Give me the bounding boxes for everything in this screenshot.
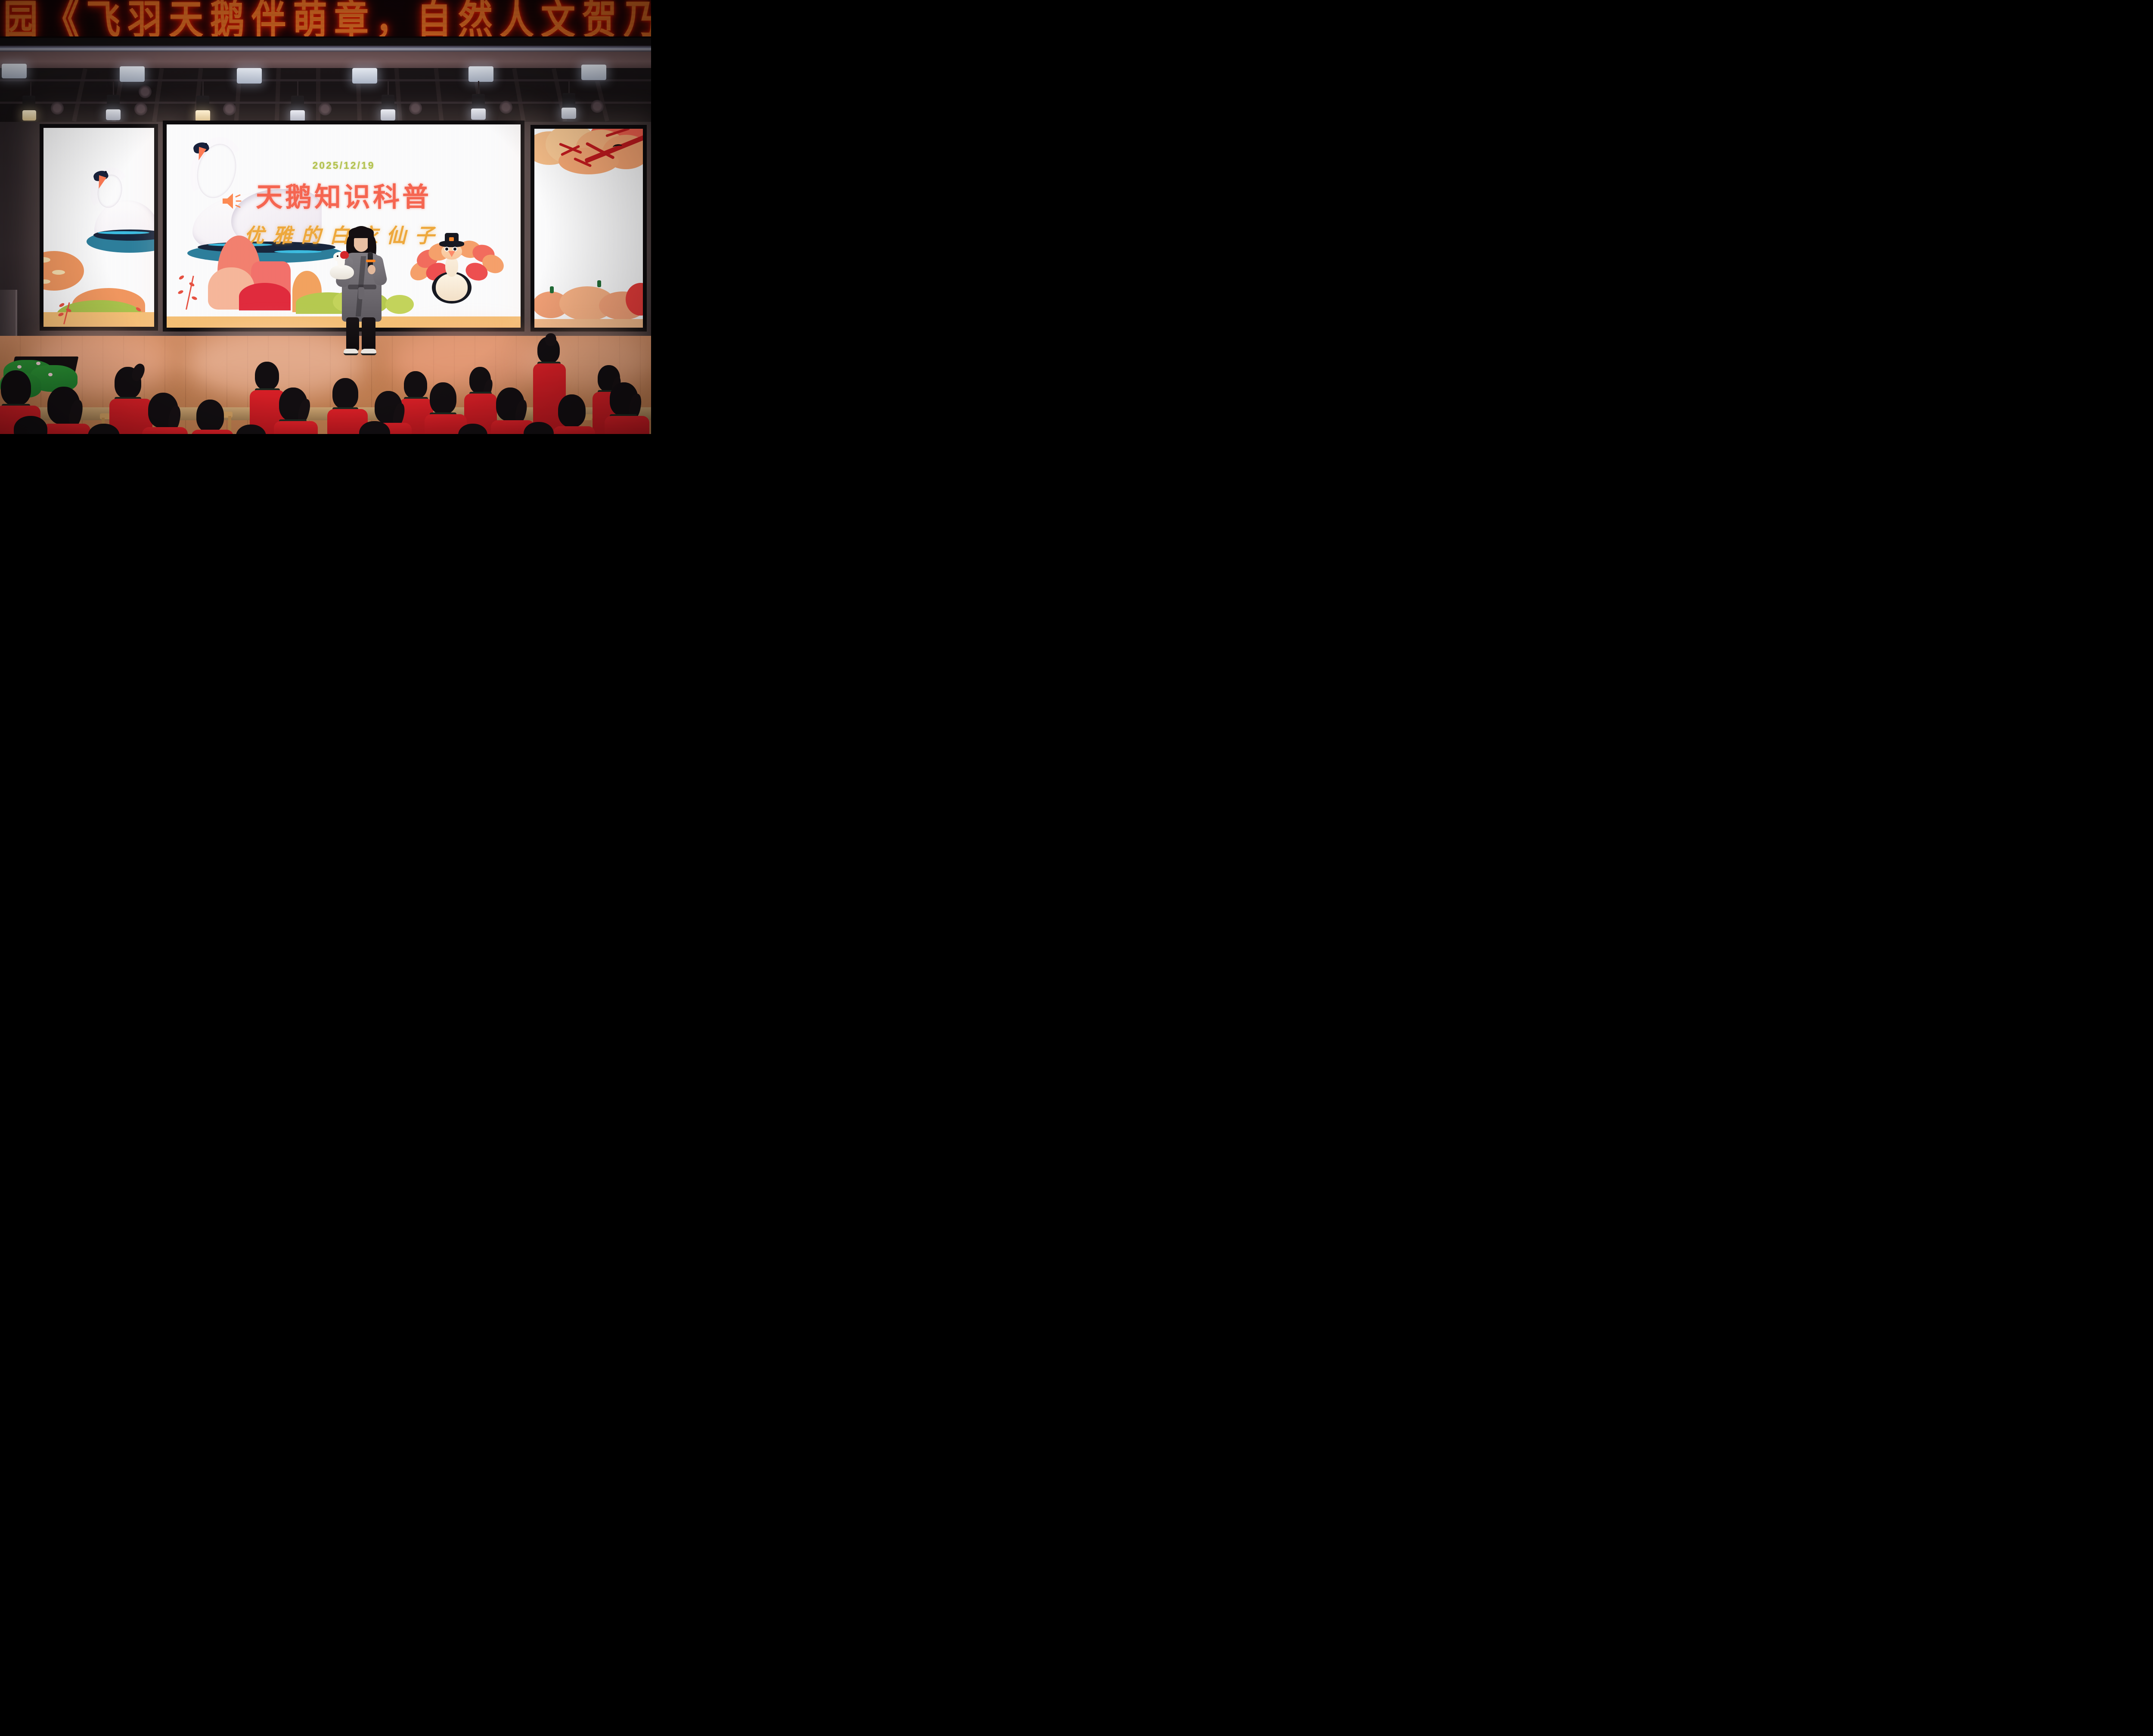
- plush-red-crest: [340, 251, 349, 259]
- par-can-fixture: [134, 102, 147, 115]
- ceiling-beam: [316, 68, 320, 122]
- child-head: [458, 424, 487, 434]
- wash-light-fixture: [237, 68, 262, 84]
- ceiling-beam: [394, 68, 403, 122]
- par-can-fixture: [591, 100, 604, 113]
- list-item: [605, 382, 651, 434]
- ceiling-beam: [512, 68, 526, 122]
- light-hanger: [297, 81, 298, 97]
- plush-eye: [337, 255, 338, 257]
- turkey-pupil: [453, 248, 456, 251]
- led-panel-right: [530, 125, 647, 332]
- fresnel-lens: [290, 110, 305, 121]
- wash-light-fixture: [2, 64, 27, 78]
- bush-speckle: [40, 279, 50, 284]
- par-can-fixture: [51, 102, 64, 115]
- par-can-fixture: [139, 85, 152, 98]
- pilgrim-hat-buckle: [449, 237, 454, 241]
- turkey-belly: [436, 273, 468, 301]
- prop-blossom: [36, 362, 40, 365]
- water-highlight: [274, 250, 322, 253]
- child-head: [255, 362, 279, 390]
- turkey-illustration: [408, 232, 498, 314]
- child-uniform: [605, 416, 649, 434]
- child-head: [88, 424, 120, 434]
- led-marquee-banner: 园《飞羽天鹅伴萌章，自然人文贺乃年》大: [0, 0, 651, 38]
- wash-light-fixture: [352, 68, 377, 84]
- child-head: [524, 422, 554, 434]
- water-highlight: [98, 231, 149, 234]
- fresnel-lens: [562, 108, 576, 119]
- led-banner-text: 园《飞羽天鹅伴萌章，自然人文贺乃年》大: [3, 0, 651, 38]
- turkey-neck: [445, 257, 458, 277]
- auditorium-scene: 园《飞羽天鹅伴萌章，自然人文贺乃年》大: [0, 0, 651, 434]
- ceiling-light-strip: [0, 46, 651, 52]
- fresnel-lens: [381, 109, 395, 121]
- child-head: [359, 421, 390, 434]
- led-panel-left: [40, 124, 158, 331]
- presenter-leg-left: [346, 317, 359, 351]
- list-item: [84, 424, 135, 434]
- fresnel-lens: [22, 110, 36, 121]
- presenter-leg-right: [362, 317, 375, 351]
- child-head: [332, 378, 358, 409]
- child-uniform: [191, 430, 233, 434]
- fresnel-lens: [471, 108, 486, 120]
- red-hill: [239, 283, 291, 310]
- fresnel-lens: [195, 110, 210, 121]
- child-head: [236, 425, 266, 434]
- child-head: [430, 382, 456, 414]
- list-item: [455, 424, 502, 434]
- pilgrim-hat-brim: [439, 241, 464, 247]
- list-item: [274, 387, 320, 434]
- child-head: [14, 416, 47, 434]
- list-item: [233, 425, 281, 434]
- ground-strip: [534, 319, 643, 328]
- swan-plush-toy: [328, 252, 355, 280]
- presenter-shoe-right: [361, 349, 376, 355]
- list-item: [520, 422, 568, 434]
- list-item: [10, 416, 62, 434]
- presenter-belt-knot: [358, 287, 364, 299]
- swan-eye: [105, 171, 107, 173]
- prop-blossom: [17, 365, 22, 369]
- pumpkin-stem: [550, 286, 554, 293]
- presenter-hand: [368, 265, 375, 274]
- microphone-band: [366, 260, 375, 262]
- wash-light-fixture: [120, 66, 145, 82]
- swan-eye: [205, 143, 207, 145]
- slide-title: 天鹅知识科普: [167, 175, 521, 214]
- pumpkin-stem: [597, 280, 601, 287]
- child-head: [196, 400, 224, 432]
- ceiling-beam: [72, 68, 87, 121]
- par-can-fixture: [223, 102, 236, 115]
- ceiling-beam: [152, 68, 164, 122]
- bush-speckle: [52, 270, 65, 275]
- ceiling-beam: [434, 68, 444, 122]
- light-hanger: [30, 81, 31, 97]
- list-item: [142, 393, 190, 434]
- par-can-fixture: [319, 102, 332, 115]
- presenter-shoe-left: [344, 349, 358, 355]
- ceiling-valance-band: [0, 52, 651, 68]
- light-hanger: [202, 81, 204, 97]
- child-uniform: [142, 427, 188, 434]
- ceiling-beam: [275, 68, 281, 122]
- list-item: [191, 400, 236, 434]
- list-item: [356, 421, 406, 434]
- ceiling-lighting-truss: [0, 38, 651, 122]
- turkey-beak: [448, 251, 455, 257]
- truss-rail: [0, 79, 651, 81]
- wash-light-fixture: [468, 66, 493, 82]
- presenter-teacher: [336, 226, 388, 357]
- fresnel-lens: [106, 109, 121, 120]
- par-can-fixture: [499, 101, 512, 114]
- child-head: [1, 370, 31, 406]
- par-can-fixture: [409, 102, 422, 115]
- child-hair-tuft: [545, 333, 556, 346]
- slide-date: 2025/12/19: [167, 160, 521, 171]
- wash-light-fixture: [581, 65, 606, 80]
- turkey-pupil: [445, 248, 448, 251]
- prop-blossom: [48, 373, 53, 376]
